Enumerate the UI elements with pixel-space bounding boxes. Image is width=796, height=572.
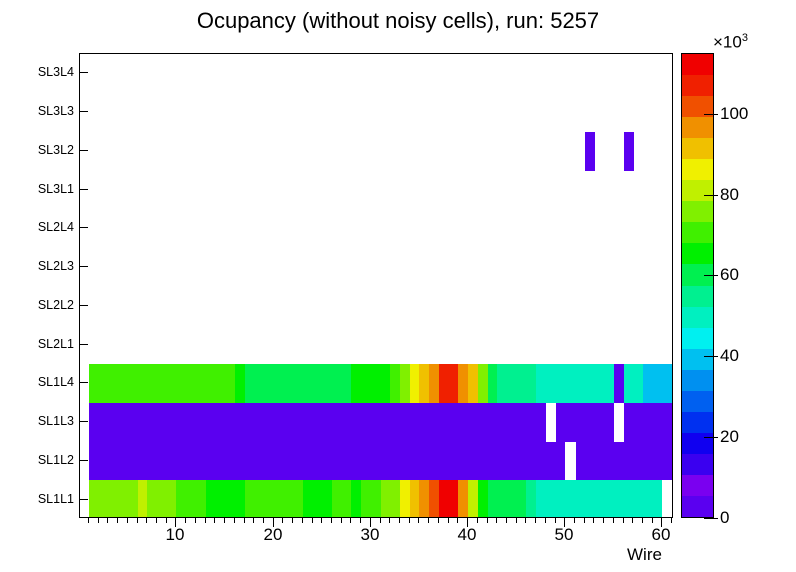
- x-axis-minor-tick: [613, 518, 614, 523]
- x-axis-minor-tick: [205, 518, 206, 523]
- y-axis-tick: [79, 344, 88, 345]
- y-axis-label-SL3L2: SL3L2: [0, 143, 74, 157]
- x-axis-minor-tick: [321, 518, 322, 523]
- colorbar-band: [682, 473, 713, 496]
- plot-frame: [79, 53, 673, 518]
- x-axis-minor-tick: [584, 518, 585, 523]
- x-axis-minor-tick: [535, 518, 536, 523]
- x-axis-minor-tick: [185, 518, 186, 523]
- x-axis-minor-tick: [555, 518, 556, 523]
- x-axis-title: Wire: [627, 545, 662, 565]
- x-axis-ticklabel: 20: [264, 525, 283, 545]
- x-axis-minor-tick: [117, 518, 118, 523]
- x-axis-minor-tick: [574, 518, 575, 523]
- colorbar-tick: [704, 356, 718, 357]
- heatmap-cell: [614, 403, 624, 442]
- x-axis-minor-tick: [146, 518, 147, 523]
- x-axis-minor-tick: [350, 518, 351, 523]
- heatmap-cell: [662, 480, 672, 518]
- x-axis-minor-tick: [496, 518, 497, 523]
- colorbar-band: [682, 53, 713, 75]
- colorbar-band: [682, 431, 713, 454]
- colorbar-band: [682, 410, 713, 433]
- y-axis-tick: [79, 111, 88, 112]
- x-axis-minor-tick: [428, 518, 429, 523]
- x-axis-ticklabel: 60: [652, 525, 671, 545]
- heatmap-row-fill: [89, 403, 672, 442]
- page-title: Ocupancy (without noisy cells), run: 525…: [0, 8, 796, 34]
- colorbar-band: [682, 305, 713, 328]
- x-axis-minor-tick: [253, 518, 254, 523]
- heatmap-cell: [585, 132, 595, 171]
- x-axis-minor-tick: [399, 518, 400, 523]
- y-axis-label-SL1L1: SL1L1: [0, 492, 74, 506]
- colorbar-ticklabel: 40: [720, 346, 739, 366]
- colorbar-band: [682, 115, 713, 138]
- x-axis-minor-tick: [487, 518, 488, 523]
- y-axis-label-SL2L1: SL2L1: [0, 337, 74, 351]
- x-axis-minor-tick: [137, 518, 138, 523]
- heatmap-cell: [546, 403, 556, 442]
- x-axis-minor-tick: [98, 518, 99, 523]
- x-axis-minor-tick: [282, 518, 283, 523]
- colorbar-band: [682, 284, 713, 307]
- colorbar-band: [682, 73, 713, 96]
- y-axis-tick: [79, 266, 88, 267]
- x-axis-minor-tick: [341, 518, 342, 523]
- heatmap-cell: [565, 442, 575, 481]
- y-axis-tick: [79, 382, 88, 383]
- colorbar-exponent-base: ×10: [713, 33, 742, 52]
- x-axis-ticklabel: 10: [166, 525, 185, 545]
- heatmap-row-fill: [89, 442, 672, 481]
- y-axis-tick: [79, 460, 88, 461]
- x-axis-ticklabel: 40: [458, 525, 477, 545]
- y-axis-label-SL1L4: SL1L4: [0, 375, 74, 389]
- colorbar-ticklabel: 60: [720, 265, 739, 285]
- colorbar-ticklabel: 0: [720, 508, 729, 528]
- x-axis-minor-tick: [516, 518, 517, 523]
- colorbar-band: [682, 136, 713, 159]
- x-axis-minor-tick: [244, 518, 245, 523]
- colorbar-band: [682, 347, 713, 370]
- colorbar-band: [682, 157, 713, 180]
- colorbar-tick: [704, 195, 718, 196]
- x-axis-minor-tick: [418, 518, 419, 523]
- x-axis-ticklabel: 30: [361, 525, 380, 545]
- x-axis-minor-tick: [593, 518, 594, 523]
- x-axis-minor-tick: [263, 518, 264, 523]
- y-axis-tick: [79, 499, 88, 500]
- colorbar-tick: [704, 437, 718, 438]
- colorbar-exponent-power: 3: [742, 32, 748, 44]
- y-axis-tick: [79, 72, 88, 73]
- x-axis-minor-tick: [234, 518, 235, 523]
- x-axis-minor-tick: [603, 518, 604, 523]
- colorbar-exponent: ×103: [713, 32, 748, 53]
- x-axis-minor-tick: [632, 518, 633, 523]
- x-axis-minor-tick: [195, 518, 196, 523]
- y-axis-label-SL1L3: SL1L3: [0, 414, 74, 428]
- colorbar-band: [682, 199, 713, 222]
- x-axis-minor-tick: [312, 518, 313, 523]
- x-axis-minor-tick: [623, 518, 624, 523]
- colorbar-band: [682, 241, 713, 264]
- x-axis-minor-tick: [389, 518, 390, 523]
- colorbar-tick: [704, 275, 718, 276]
- y-axis-label-SL3L1: SL3L1: [0, 182, 74, 196]
- colorbar-tick: [704, 114, 718, 115]
- y-axis-label-SL3L3: SL3L3: [0, 104, 74, 118]
- colorbar-ticklabel: 100: [720, 104, 748, 124]
- heatmap-cell: [662, 364, 672, 403]
- x-axis-minor-tick: [127, 518, 128, 523]
- colorbar-band: [682, 368, 713, 391]
- x-axis-minor-tick: [166, 518, 167, 523]
- x-axis-minor-tick: [409, 518, 410, 523]
- x-axis-minor-tick: [671, 518, 672, 523]
- x-axis-minor-tick: [457, 518, 458, 523]
- y-axis-tick: [79, 189, 88, 190]
- y-axis-label-SL2L2: SL2L2: [0, 298, 74, 312]
- colorbar-band: [682, 389, 713, 412]
- x-axis-minor-tick: [652, 518, 653, 523]
- colorbar-band: [682, 263, 713, 286]
- x-axis-minor-tick: [380, 518, 381, 523]
- colorbar-band: [682, 178, 713, 201]
- colorbar-band: [682, 220, 713, 243]
- x-axis-minor-tick: [88, 518, 89, 523]
- x-axis-minor-tick: [438, 518, 439, 523]
- x-axis-minor-tick: [525, 518, 526, 523]
- colorbar-ticklabel: 20: [720, 427, 739, 447]
- x-axis-minor-tick: [224, 518, 225, 523]
- heatmap-cells: [80, 54, 672, 517]
- colorbar-band: [682, 326, 713, 349]
- x-axis-minor-tick: [214, 518, 215, 523]
- colorbar-ticklabel: 80: [720, 185, 739, 205]
- colorbar[interactable]: [681, 53, 714, 518]
- x-axis-minor-tick: [331, 518, 332, 523]
- x-axis-minor-tick: [156, 518, 157, 523]
- x-axis-minor-tick: [107, 518, 108, 523]
- colorbar-band: [682, 452, 713, 475]
- y-axis-tick: [79, 421, 88, 422]
- y-axis-label-SL3L4: SL3L4: [0, 65, 74, 79]
- x-axis-minor-tick: [545, 518, 546, 523]
- y-axis-label-SL1L2: SL1L2: [0, 453, 74, 467]
- heatmap-cell: [672, 403, 673, 442]
- x-axis-minor-tick: [448, 518, 449, 523]
- x-axis-minor-tick: [360, 518, 361, 523]
- y-axis-label-SL2L3: SL2L3: [0, 259, 74, 273]
- x-axis-minor-tick: [642, 518, 643, 523]
- colorbar-tick: [704, 518, 718, 519]
- heatmap-cell: [624, 132, 634, 171]
- y-axis-tick: [79, 305, 88, 306]
- x-axis-ticklabel: 50: [555, 525, 574, 545]
- x-axis-minor-tick: [506, 518, 507, 523]
- root-canvas: Ocupancy (without noisy cells), run: 525…: [0, 0, 796, 572]
- x-axis-minor-tick: [292, 518, 293, 523]
- colorbar-band: [682, 494, 713, 517]
- y-axis-tick: [79, 150, 88, 151]
- y-axis-tick: [79, 227, 88, 228]
- y-axis-label-SL2L4: SL2L4: [0, 220, 74, 234]
- x-axis-minor-tick: [302, 518, 303, 523]
- x-axis-minor-tick: [477, 518, 478, 523]
